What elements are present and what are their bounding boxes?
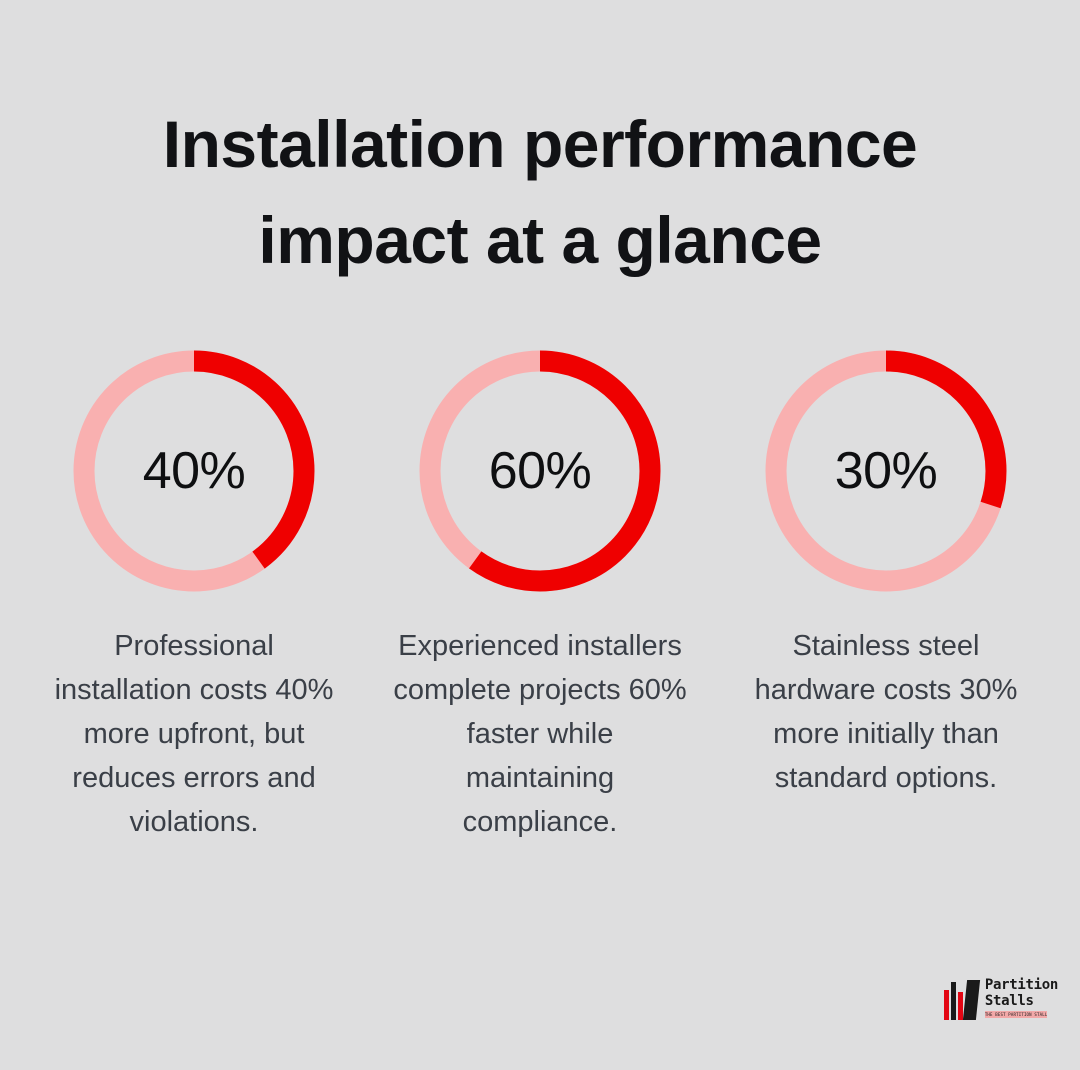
donut-chart: 60% xyxy=(419,350,661,592)
donut-value-label: 30% xyxy=(765,350,1007,592)
logo-word-partition: Partition xyxy=(985,978,1058,992)
page-title: Installation performance impact at a gla… xyxy=(0,96,1080,288)
page-title-line-1: Installation performance xyxy=(0,96,1080,192)
logo-bar-dark-1 xyxy=(951,982,956,1020)
brand-logo: Partition Stalls THE BEST PARTITION STAL… xyxy=(944,976,1058,1020)
logo-bar-red-1 xyxy=(944,990,949,1020)
stat-caption: Professional installation costs 40% more… xyxy=(44,624,344,844)
logo-bar-dark-2 xyxy=(963,980,980,1020)
page-title-line-2: impact at a glance xyxy=(0,192,1080,288)
donut-value-label: 60% xyxy=(419,350,661,592)
donut-value-label: 40% xyxy=(73,350,315,592)
logo-tagline: THE BEST PARTITION STALLS xyxy=(985,1011,1047,1018)
donut-chart: 30% xyxy=(765,350,1007,592)
donut-chart: 40% xyxy=(73,350,315,592)
logo-wordmark: Partition Stalls THE BEST PARTITION STAL… xyxy=(985,978,1058,1018)
infographic-canvas: Installation performance impact at a gla… xyxy=(0,0,1080,1070)
stat-card: 40% Professional installation costs 40% … xyxy=(21,350,367,844)
stat-card: 30% Stainless steel hardware costs 30% m… xyxy=(713,350,1059,800)
logo-bars-icon xyxy=(944,976,978,1020)
stat-card-row: 40% Professional installation costs 40% … xyxy=(0,350,1080,844)
logo-bar-red-2 xyxy=(958,992,963,1020)
stat-caption: Experienced installers complete projects… xyxy=(390,624,690,844)
stat-caption: Stainless steel hardware costs 30% more … xyxy=(736,624,1036,800)
logo-word-stalls: Stalls xyxy=(985,994,1058,1008)
stat-card: 60% Experienced installers complete proj… xyxy=(367,350,713,844)
